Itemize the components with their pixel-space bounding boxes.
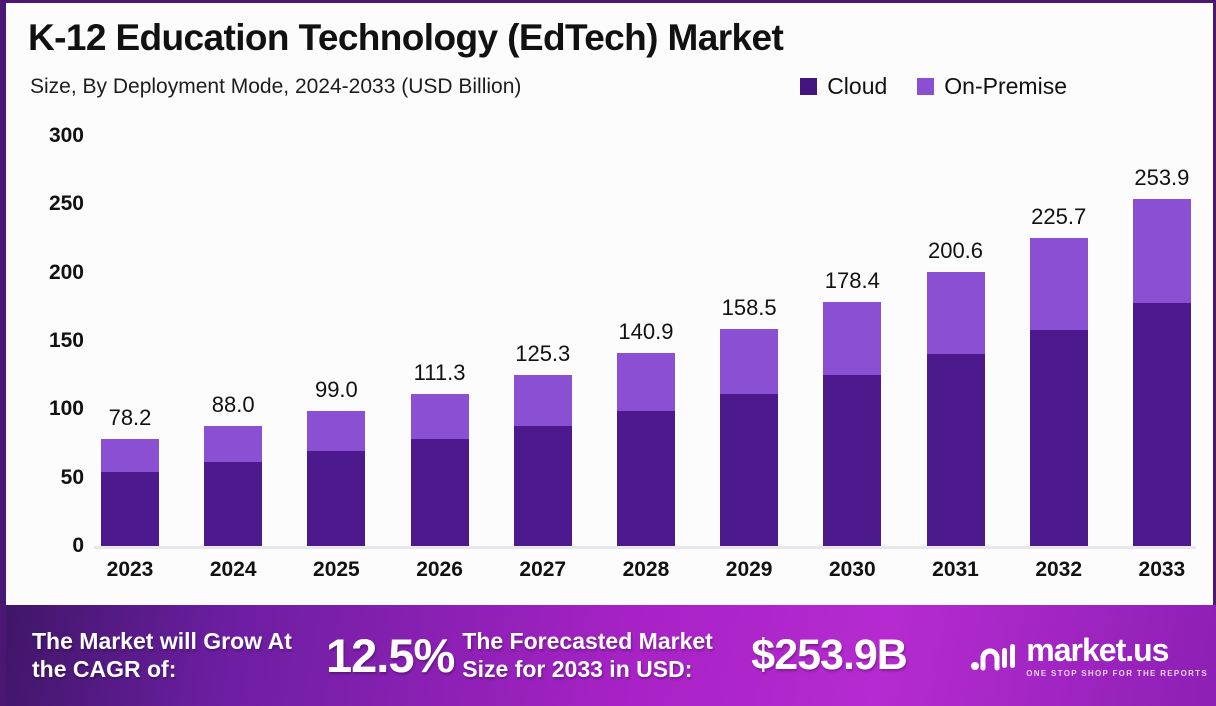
bar-segment-cloud[interactable] [514, 426, 572, 546]
bar-segment-cloud[interactable] [1030, 330, 1088, 546]
bar-value-label: 158.5 [722, 295, 777, 321]
chart-plot-area: 050100150200250300 78.288.099.0111.3125.… [6, 115, 1216, 608]
x-axis-tick: 2023 [101, 558, 159, 598]
chart-legend: Cloud On-Premise [800, 73, 1067, 100]
bar-segment-cloud[interactable] [720, 394, 778, 546]
legend-label-on-premise: On-Premise [944, 73, 1067, 100]
bar-segment-on-premise[interactable] [617, 353, 675, 411]
bar-segment-cloud[interactable] [307, 451, 365, 546]
x-axis-tick: 2027 [514, 558, 572, 598]
bar-value-label: 178.4 [825, 268, 880, 294]
y-axis-tick: 100 [49, 397, 84, 421]
bar-group[interactable]: 88.0 [204, 115, 262, 546]
x-axis-tick: 2031 [927, 558, 985, 598]
forecast-label: The Forecasted Market Size for 2033 in U… [462, 628, 747, 682]
cagr-label: The Market will Grow At the CAGR of: [32, 628, 322, 682]
bar-group[interactable]: 140.9 [617, 115, 675, 546]
bar-value-label: 140.9 [618, 319, 673, 345]
market-us-logo-icon [969, 636, 1017, 676]
forecast-value: $253.9B [751, 630, 907, 681]
bar-group[interactable]: 78.2 [101, 115, 159, 546]
bar-value-label: 111.3 [414, 360, 466, 386]
x-axis-tick: 2029 [720, 558, 778, 598]
chart-subtitle: Size, By Deployment Mode, 2024-2033 (USD… [30, 75, 521, 99]
bar-segment-cloud[interactable] [1133, 303, 1191, 546]
y-axis-tick: 50 [61, 466, 84, 490]
bar-segment-on-premise[interactable] [307, 411, 365, 452]
bar-segment-on-premise[interactable] [823, 302, 881, 375]
market-us-logo[interactable]: market.us ONE STOP SHOP FOR THE REPORTS [969, 634, 1208, 678]
bar-segment-on-premise[interactable] [1030, 238, 1088, 331]
bar-segment-on-premise[interactable] [514, 375, 572, 426]
bar-value-label: 225.7 [1031, 204, 1086, 230]
bar-value-label: 200.6 [928, 238, 983, 264]
x-axis-tick: 2033 [1133, 558, 1191, 598]
x-axis-tick: 2026 [411, 558, 469, 598]
bar-segment-cloud[interactable] [927, 354, 985, 546]
bar-value-label: 99.0 [315, 377, 358, 403]
legend-label-cloud: Cloud [827, 73, 887, 100]
logo-name: market.us [1026, 634, 1208, 666]
logo-text-block: market.us ONE STOP SHOP FOR THE REPORTS [1026, 634, 1208, 678]
page-title: K-12 Education Technology (EdTech) Marke… [28, 17, 783, 59]
x-axis-tick: 2024 [204, 558, 262, 598]
legend-item-cloud[interactable]: Cloud [800, 73, 887, 100]
bar-series-container: 78.288.099.0111.3125.3140.9158.5178.4200… [101, 115, 1191, 546]
bar-group[interactable]: 111.3 [411, 115, 469, 546]
x-axis-baseline [94, 546, 1196, 549]
bar-segment-cloud[interactable] [204, 462, 262, 546]
bar-segment-on-premise[interactable] [204, 426, 262, 462]
y-axis-tick: 250 [49, 192, 84, 216]
bar-group[interactable]: 158.5 [720, 115, 778, 546]
bar-group[interactable]: 200.6 [927, 115, 985, 546]
bar-value-label: 125.3 [515, 341, 570, 367]
bar-segment-on-premise[interactable] [411, 394, 469, 440]
y-axis-tick: 300 [49, 124, 84, 148]
bar-group[interactable]: 99.0 [307, 115, 365, 546]
legend-item-on-premise[interactable]: On-Premise [917, 73, 1067, 100]
infographic-root: K-12 Education Technology (EdTech) Marke… [0, 0, 1216, 706]
x-axis-tick: 2030 [823, 558, 881, 598]
logo-tagline: ONE STOP SHOP FOR THE REPORTS [1026, 669, 1208, 678]
bar-segment-cloud[interactable] [411, 439, 469, 546]
x-axis: 2023202420252026202720282029203020312032… [101, 558, 1191, 598]
bar-group[interactable]: 125.3 [514, 115, 572, 546]
x-axis-tick: 2025 [307, 558, 365, 598]
x-axis-tick: 2028 [617, 558, 675, 598]
bar-value-label: 78.2 [109, 405, 152, 431]
bar-value-label: 253.9 [1134, 165, 1189, 191]
y-axis: 050100150200250300 [6, 115, 94, 550]
y-axis-tick: 0 [72, 534, 84, 558]
cagr-value: 12.5% [326, 628, 454, 683]
summary-banner: The Market will Grow At the CAGR of: 12.… [6, 605, 1216, 706]
bar-segment-cloud[interactable] [823, 375, 881, 546]
bar-segment-on-premise[interactable] [927, 272, 985, 354]
chart-header: K-12 Education Technology (EdTech) Marke… [6, 3, 1213, 115]
x-axis-tick: 2032 [1030, 558, 1088, 598]
y-axis-tick: 200 [49, 261, 84, 285]
bar-segment-cloud[interactable] [101, 472, 159, 546]
y-axis-tick: 150 [49, 329, 84, 353]
square-swatch-icon [917, 78, 934, 95]
bar-segment-cloud[interactable] [617, 411, 675, 546]
bar-group[interactable]: 253.9 [1133, 115, 1191, 546]
bar-group[interactable]: 178.4 [823, 115, 881, 546]
square-swatch-icon [800, 78, 817, 95]
bar-segment-on-premise[interactable] [101, 439, 159, 472]
bar-segment-on-premise[interactable] [1133, 199, 1191, 303]
bar-value-label: 88.0 [212, 392, 255, 418]
bar-segment-on-premise[interactable] [720, 329, 778, 394]
bar-group[interactable]: 225.7 [1030, 115, 1088, 546]
